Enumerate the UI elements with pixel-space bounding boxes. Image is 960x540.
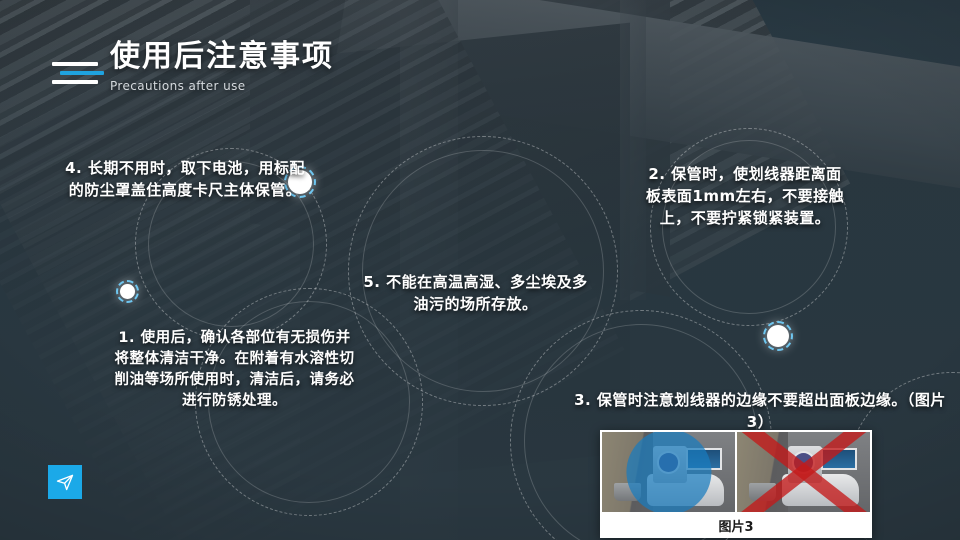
figure-photo-row: [600, 430, 872, 512]
decor-dot-right: [767, 325, 789, 347]
note-text-5: 5. 不能在高温高湿、多尘埃及多油污的场所存放。: [358, 272, 593, 316]
note-text-1: 1. 使用后，确认各部位有无损伤并将整体清洁干净。在附着有水溶性切削油等场所使用…: [112, 328, 357, 412]
ok-circle-icon: [626, 432, 711, 512]
title-block: 使用后注意事项 Precautions after use: [52, 40, 334, 93]
slide-canvas: 使用后注意事项 Precautions after use 4. 长期不用时，取…: [0, 0, 960, 540]
page-title: 使用后注意事项: [110, 40, 334, 73]
note-text-2: 2. 保管时，使划线器距离面板表面1mm左右，不要接触上，不要拧紧锁紧装置。: [645, 164, 845, 229]
ng-cross-icon: [737, 432, 870, 512]
figure-caption: 图片3: [600, 512, 872, 538]
note-text-3: 3. 保管时注意划线器的边缘不要超出面板边缘。（图片3）: [565, 390, 955, 434]
figure-photo-correct: [602, 432, 735, 512]
paper-plane-icon: [55, 472, 75, 492]
paper-plane-badge[interactable]: [48, 465, 82, 499]
decor-dot-mid-left: [120, 284, 135, 299]
three-bar-marker-icon: [52, 62, 100, 89]
figure-photo-incorrect: [737, 432, 870, 512]
page-subtitle: Precautions after use: [110, 79, 334, 93]
figure-card: 图片3: [600, 430, 872, 538]
note-text-4: 4. 长期不用时，取下电池，用标配的防尘罩盖住高度卡尺主体保管。: [60, 158, 310, 202]
